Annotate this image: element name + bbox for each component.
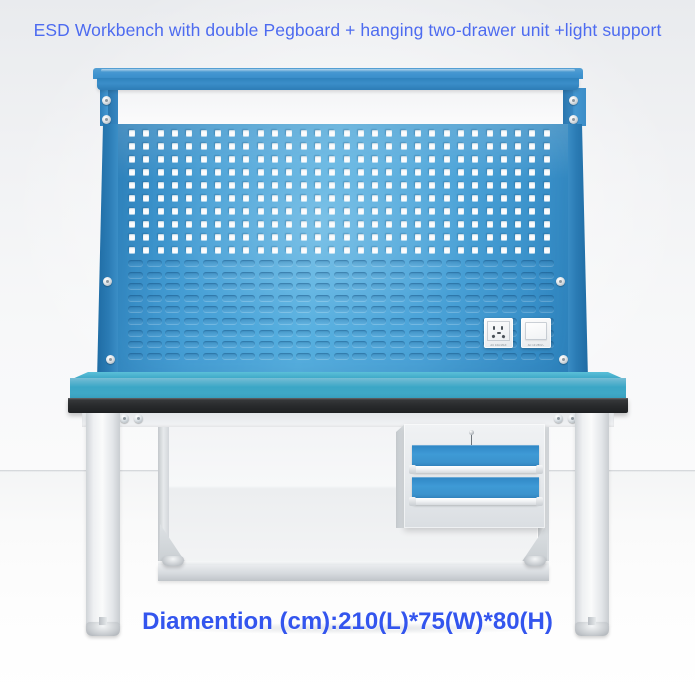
pegboard-hole (243, 221, 249, 227)
pegboard-louver (184, 260, 199, 266)
pegboard-louver (521, 260, 536, 266)
pegboard-louver (296, 330, 311, 336)
pegboard-hole (401, 221, 407, 227)
pegboard-louver (147, 295, 162, 301)
pegboard-louver (222, 330, 237, 336)
pegboard-louver (259, 283, 274, 289)
pegboard-hole (301, 208, 307, 214)
pegboard-hole (258, 130, 264, 136)
pegboard-louver (184, 283, 199, 289)
pegboard-louver (315, 260, 330, 266)
pegboard-hole (215, 156, 221, 162)
pegboard-louver (446, 353, 461, 359)
pegboard-hole (501, 156, 507, 162)
pegboard-louver (409, 330, 424, 336)
pegboard-louver (315, 283, 330, 289)
power-outlet[interactable]: AC 10A MAX (484, 318, 513, 348)
pegboard-hole (258, 221, 264, 227)
pegboard-louver (446, 260, 461, 266)
pegboard-hole (272, 195, 278, 201)
bench-leg-right (575, 413, 609, 625)
pegboard-hole (401, 247, 407, 253)
pegboard-hole (358, 234, 364, 240)
pegboard-hole (329, 169, 335, 175)
pegboard-hole (501, 234, 507, 240)
pegboard-hole (229, 247, 235, 253)
pegboard-hole (444, 182, 450, 188)
pegboard-louver (446, 283, 461, 289)
pegboard-hole (172, 247, 178, 253)
pegboard-hole (329, 195, 335, 201)
pegboard-hole (129, 169, 135, 175)
pegboard-hole (472, 143, 478, 149)
pegboard-hole-grid (129, 130, 557, 258)
pegboard-louver (278, 260, 293, 266)
pegboard-louver (222, 318, 237, 324)
pegboard-louver (165, 330, 180, 336)
pegboard-hole (415, 169, 421, 175)
pegboard-hole (258, 156, 264, 162)
pegboard-louver (315, 272, 330, 278)
pegboard-hole (401, 169, 407, 175)
pegboard-hole (301, 169, 307, 175)
pegboard-hole (286, 234, 292, 240)
pegboard-hole (286, 195, 292, 201)
pegboard-hole (544, 208, 550, 214)
light-switch[interactable]: AC 10 250V~ (521, 318, 551, 348)
pegboard-louver (390, 341, 405, 347)
pegboard-louver (203, 260, 218, 266)
pegboard-louver (222, 341, 237, 347)
pegboard-hole (358, 156, 364, 162)
pegboard-hole (458, 195, 464, 201)
pegboard-hole (515, 247, 521, 253)
pegboard-louver (128, 306, 143, 312)
pegboard-louver (147, 341, 162, 347)
pegboard-hole (129, 247, 135, 253)
pegboard-hole (215, 182, 221, 188)
pegboard-hole (143, 156, 149, 162)
pegboard-louver (352, 295, 367, 301)
pegboard-louver (128, 272, 143, 278)
pegboard-hole (215, 208, 221, 214)
pegboard-louver (128, 318, 143, 324)
pegboard-louver (240, 353, 255, 359)
pegboard-louver (371, 330, 386, 336)
pegboard-louver (371, 260, 386, 266)
drawer-bottom-handle[interactable] (412, 498, 539, 505)
pegboard-louver (483, 306, 498, 312)
pegboard-louver (446, 341, 461, 347)
pegboard-hole (315, 143, 321, 149)
pegboard-hole (386, 143, 392, 149)
pegboard-hole (444, 221, 450, 227)
pegboard-hole (386, 169, 392, 175)
shelf-bolt-left-bottom (102, 115, 111, 124)
pegboard-hole (458, 182, 464, 188)
pegboard-hole (258, 247, 264, 253)
pegboard-hole (372, 156, 378, 162)
pegboard-louver (165, 306, 180, 312)
pegboard-hole (215, 130, 221, 136)
pegboard-hole (515, 130, 521, 136)
pegboard-hole (329, 208, 335, 214)
pegboard-hole (215, 143, 221, 149)
pegboard-hole (243, 169, 249, 175)
pegboard-louver (502, 353, 517, 359)
pegboard-louver (147, 330, 162, 336)
pegboard-louver (184, 330, 199, 336)
pegboard-hole (358, 195, 364, 201)
pegboard-hole (529, 221, 535, 227)
pegboard-hole (258, 234, 264, 240)
pegboard-hole (344, 221, 350, 227)
pegboard-hole (286, 221, 292, 227)
pegboard-bolt-left-low (106, 355, 115, 364)
pegboard-louver (390, 295, 405, 301)
pegboard-hole (301, 247, 307, 253)
pegboard-hole (272, 234, 278, 240)
pegboard-hole (458, 143, 464, 149)
pegboard-louver (539, 306, 554, 312)
pegboard-louver (184, 353, 199, 359)
pegboard-hole (158, 195, 164, 201)
pegboard-hole (401, 143, 407, 149)
pegboard-hole (401, 195, 407, 201)
pegboard-hole (315, 169, 321, 175)
pegboard-bolt-right-mid (556, 277, 565, 286)
pegboard-hole (158, 182, 164, 188)
pegboard-hole (529, 208, 535, 214)
pegboard-hole (286, 182, 292, 188)
pegboard-louver (427, 295, 442, 301)
worktop-bolt-left-b (134, 414, 143, 423)
pegboard-hole (329, 234, 335, 240)
pegboard-hole (358, 221, 364, 227)
pegboard-hole (272, 156, 278, 162)
pegboard-hole (372, 221, 378, 227)
worktop-edge-highlight (68, 398, 628, 400)
pegboard-hole (429, 221, 435, 227)
pegboard-hole (129, 182, 135, 188)
drawer-bottom-handle-cap-left (409, 497, 416, 506)
pegboard-louver (184, 272, 199, 278)
pegboard-louver (128, 341, 143, 347)
pegboard-hole (429, 195, 435, 201)
pegboard-hole (515, 195, 521, 201)
pegboard-hole (515, 143, 521, 149)
pegboard-louver (539, 295, 554, 301)
pegboard-louver (165, 353, 180, 359)
pegboard-louver (334, 283, 349, 289)
pegboard-hole (386, 247, 392, 253)
pegboard-louver (278, 341, 293, 347)
shelf-highlight (101, 69, 575, 72)
pegboard-louver (128, 283, 143, 289)
pegboard-louver (315, 330, 330, 336)
pegboard-hole (386, 195, 392, 201)
pegboard-hole (515, 182, 521, 188)
pegboard-louver (409, 353, 424, 359)
pegboard-louver (371, 353, 386, 359)
pegboard-hole (143, 247, 149, 253)
pegboard-hole (215, 169, 221, 175)
pegboard-louver (296, 341, 311, 347)
pegboard-hole (401, 156, 407, 162)
pegboard-hole (386, 208, 392, 214)
pegboard-hole (258, 208, 264, 214)
pegboard-hole (458, 247, 464, 253)
pegboard-hole (201, 221, 207, 227)
pegboard-hole (358, 130, 364, 136)
shelf-bolt-right-top (569, 96, 578, 105)
pegboard-hole (272, 130, 278, 136)
pegboard-louver (334, 353, 349, 359)
pegboard-hole (172, 169, 178, 175)
drawer-top-handle[interactable] (412, 466, 539, 473)
pegboard-louver (278, 272, 293, 278)
pegboard-louver (184, 341, 199, 347)
pegboard-louver (128, 353, 143, 359)
pegboard-louver (296, 318, 311, 324)
pegboard-louver (483, 353, 498, 359)
pegboard-louver (334, 272, 349, 278)
pegboard-hole (143, 221, 149, 227)
pegboard-hole (172, 182, 178, 188)
pegboard-hole (529, 182, 535, 188)
pegboard-hole (186, 156, 192, 162)
bottom-stretcher (158, 565, 549, 581)
pegboard-hole (358, 143, 364, 149)
hanging-two-drawer-unit[interactable] (404, 424, 545, 528)
pegboard-hole (501, 169, 507, 175)
pegboard-louver (390, 330, 405, 336)
pegboard-louver (465, 330, 480, 336)
pegboard-hole (186, 221, 192, 227)
pegboard-louver (165, 260, 180, 266)
pegboard-louver (352, 260, 367, 266)
pegboard-hole (286, 169, 292, 175)
pegboard-hole (286, 208, 292, 214)
pegboard-hole (172, 130, 178, 136)
pegboard-hole (329, 143, 335, 149)
pegboard-hole (143, 195, 149, 201)
pegboard-hole (215, 221, 221, 227)
pegboard-hole (444, 234, 450, 240)
pegboard-louver (427, 260, 442, 266)
pegboard-hole (229, 195, 235, 201)
pegboard-hole (344, 169, 350, 175)
pegboard-hole (201, 195, 207, 201)
pegboard-louver (483, 272, 498, 278)
pegboard-hole (272, 143, 278, 149)
pegboard-hole (201, 130, 207, 136)
pegboard-hole (286, 130, 292, 136)
pegboard-hole (372, 130, 378, 136)
drawer-bottom-handle-cap-right (536, 497, 543, 506)
pegboard-hole (444, 247, 450, 253)
pegboard-hole (429, 169, 435, 175)
pegboard-hole (315, 234, 321, 240)
pegboard-hole (444, 195, 450, 201)
pegboard-hole (401, 130, 407, 136)
pegboard-hole (329, 221, 335, 227)
pegboard-louver (147, 318, 162, 324)
pegboard-louver (390, 318, 405, 324)
pegboard-hole (315, 208, 321, 214)
product-photo: ESD Workbench with double Pegboard + han… (0, 0, 695, 695)
pegboard-hole (258, 143, 264, 149)
pegboard-hole (186, 234, 192, 240)
pegboard-hole (272, 182, 278, 188)
pegboard-louver (259, 330, 274, 336)
pegboard-hole (344, 234, 350, 240)
pegboard-louver (521, 283, 536, 289)
pegboard-hole (458, 234, 464, 240)
pegboard-hole (444, 143, 450, 149)
pegboard-louver (296, 283, 311, 289)
pegboard-louver (296, 306, 311, 312)
pegboard-louver (521, 272, 536, 278)
pegboard-hole (158, 130, 164, 136)
pegboard-louver (222, 295, 237, 301)
pegboard-hole (358, 169, 364, 175)
pegboard-louver (259, 272, 274, 278)
pegboard-hole (129, 234, 135, 240)
pegboard-hole (215, 195, 221, 201)
pegboard-hole (415, 247, 421, 253)
pegboard-hole (243, 156, 249, 162)
worktop-bolt-left-a (120, 414, 129, 423)
pegboard-louver (539, 353, 554, 359)
pegboard-hole (415, 130, 421, 136)
pegboard-louver (390, 283, 405, 289)
light-support-shelf (93, 68, 583, 90)
pegboard-hole (487, 247, 493, 253)
pegboard-hole (401, 208, 407, 214)
pegboard-bolt-left-mid (103, 277, 112, 286)
pegboard-hole (315, 247, 321, 253)
pegboard-louver (203, 295, 218, 301)
pegboard-louver (390, 353, 405, 359)
pegboard-hole (329, 247, 335, 253)
pegboard-louver (165, 295, 180, 301)
pegboard-hole (129, 156, 135, 162)
pegboard-hole (544, 234, 550, 240)
light-support-gap (118, 88, 568, 125)
pegboard-hole (429, 247, 435, 253)
pegboard-louver (240, 272, 255, 278)
pegboard-hole (286, 143, 292, 149)
shelf-front-face (97, 78, 579, 90)
pegboard-hole (272, 169, 278, 175)
pegboard-hole (415, 234, 421, 240)
pegboard-louver (539, 283, 554, 289)
pegboard-louver (240, 318, 255, 324)
pegboard-louver (222, 306, 237, 312)
pegboard-hole (386, 182, 392, 188)
bench-leg-left (86, 413, 120, 625)
pegboard-louver (315, 318, 330, 324)
pegboard-louver (128, 330, 143, 336)
pegboard-hole (444, 169, 450, 175)
pegboard-louver (521, 295, 536, 301)
pegboard-louver (427, 353, 442, 359)
pegboard-hole (315, 195, 321, 201)
pegboard-louver (203, 353, 218, 359)
pegboard-louver (278, 283, 293, 289)
pegboard-hole (258, 195, 264, 201)
power-outlet-face (487, 321, 510, 341)
pegboard-hole (529, 143, 535, 149)
pegboard-hole (315, 221, 321, 227)
pegboard-hole (415, 195, 421, 201)
pegboard-hole (358, 247, 364, 253)
pegboard-hole (258, 169, 264, 175)
pegboard-hole (229, 143, 235, 149)
pegboard-louver (502, 272, 517, 278)
pegboard-hole (344, 195, 350, 201)
pegboard-hole (143, 169, 149, 175)
pegboard-louver (352, 353, 367, 359)
pegboard-hole (444, 130, 450, 136)
pegboard-louver (427, 272, 442, 278)
pegboard-hole (372, 169, 378, 175)
pegboard-hole (529, 169, 535, 175)
pegboard-louver (371, 306, 386, 312)
pegboard-hole (487, 182, 493, 188)
pegboard-hole (472, 195, 478, 201)
pegboard-hole (229, 156, 235, 162)
pegboard-louver (296, 260, 311, 266)
pegboard-louver (502, 260, 517, 266)
pegboard-louver (128, 295, 143, 301)
pegboard-louver (147, 272, 162, 278)
pegboard-louver (390, 272, 405, 278)
pegboard-louver (259, 353, 274, 359)
pegboard-louver (502, 306, 517, 312)
pegboard-hole (315, 130, 321, 136)
pegboard-hole (158, 221, 164, 227)
light-switch-rocker[interactable] (525, 322, 547, 340)
pegboard-louver (203, 272, 218, 278)
pegboard-hole (529, 156, 535, 162)
worktop-bolt-right-a (554, 414, 563, 423)
pegboard-louver (427, 341, 442, 347)
pegboard-louver (259, 260, 274, 266)
pegboard-hole (401, 234, 407, 240)
pegboard-louver (352, 341, 367, 347)
pegboard-louver (371, 318, 386, 324)
pegboard-louver (409, 283, 424, 289)
pegboard-hole (329, 130, 335, 136)
pegboard-hole (487, 143, 493, 149)
pegboard-hole (386, 234, 392, 240)
pegboard-hole (458, 169, 464, 175)
pegboard-louver (240, 330, 255, 336)
pegboard-louver (465, 283, 480, 289)
pegboard-hole (301, 143, 307, 149)
pegboard-hole (372, 182, 378, 188)
pegboard-louver (539, 260, 554, 266)
pegboard-hole (272, 247, 278, 253)
pegboard-louver (184, 295, 199, 301)
shelf-bolt-right-bottom (569, 115, 578, 124)
pegboard-louver (352, 318, 367, 324)
pegboard-louver (147, 353, 162, 359)
pegboard-louver (334, 260, 349, 266)
pegboard-hole (229, 169, 235, 175)
